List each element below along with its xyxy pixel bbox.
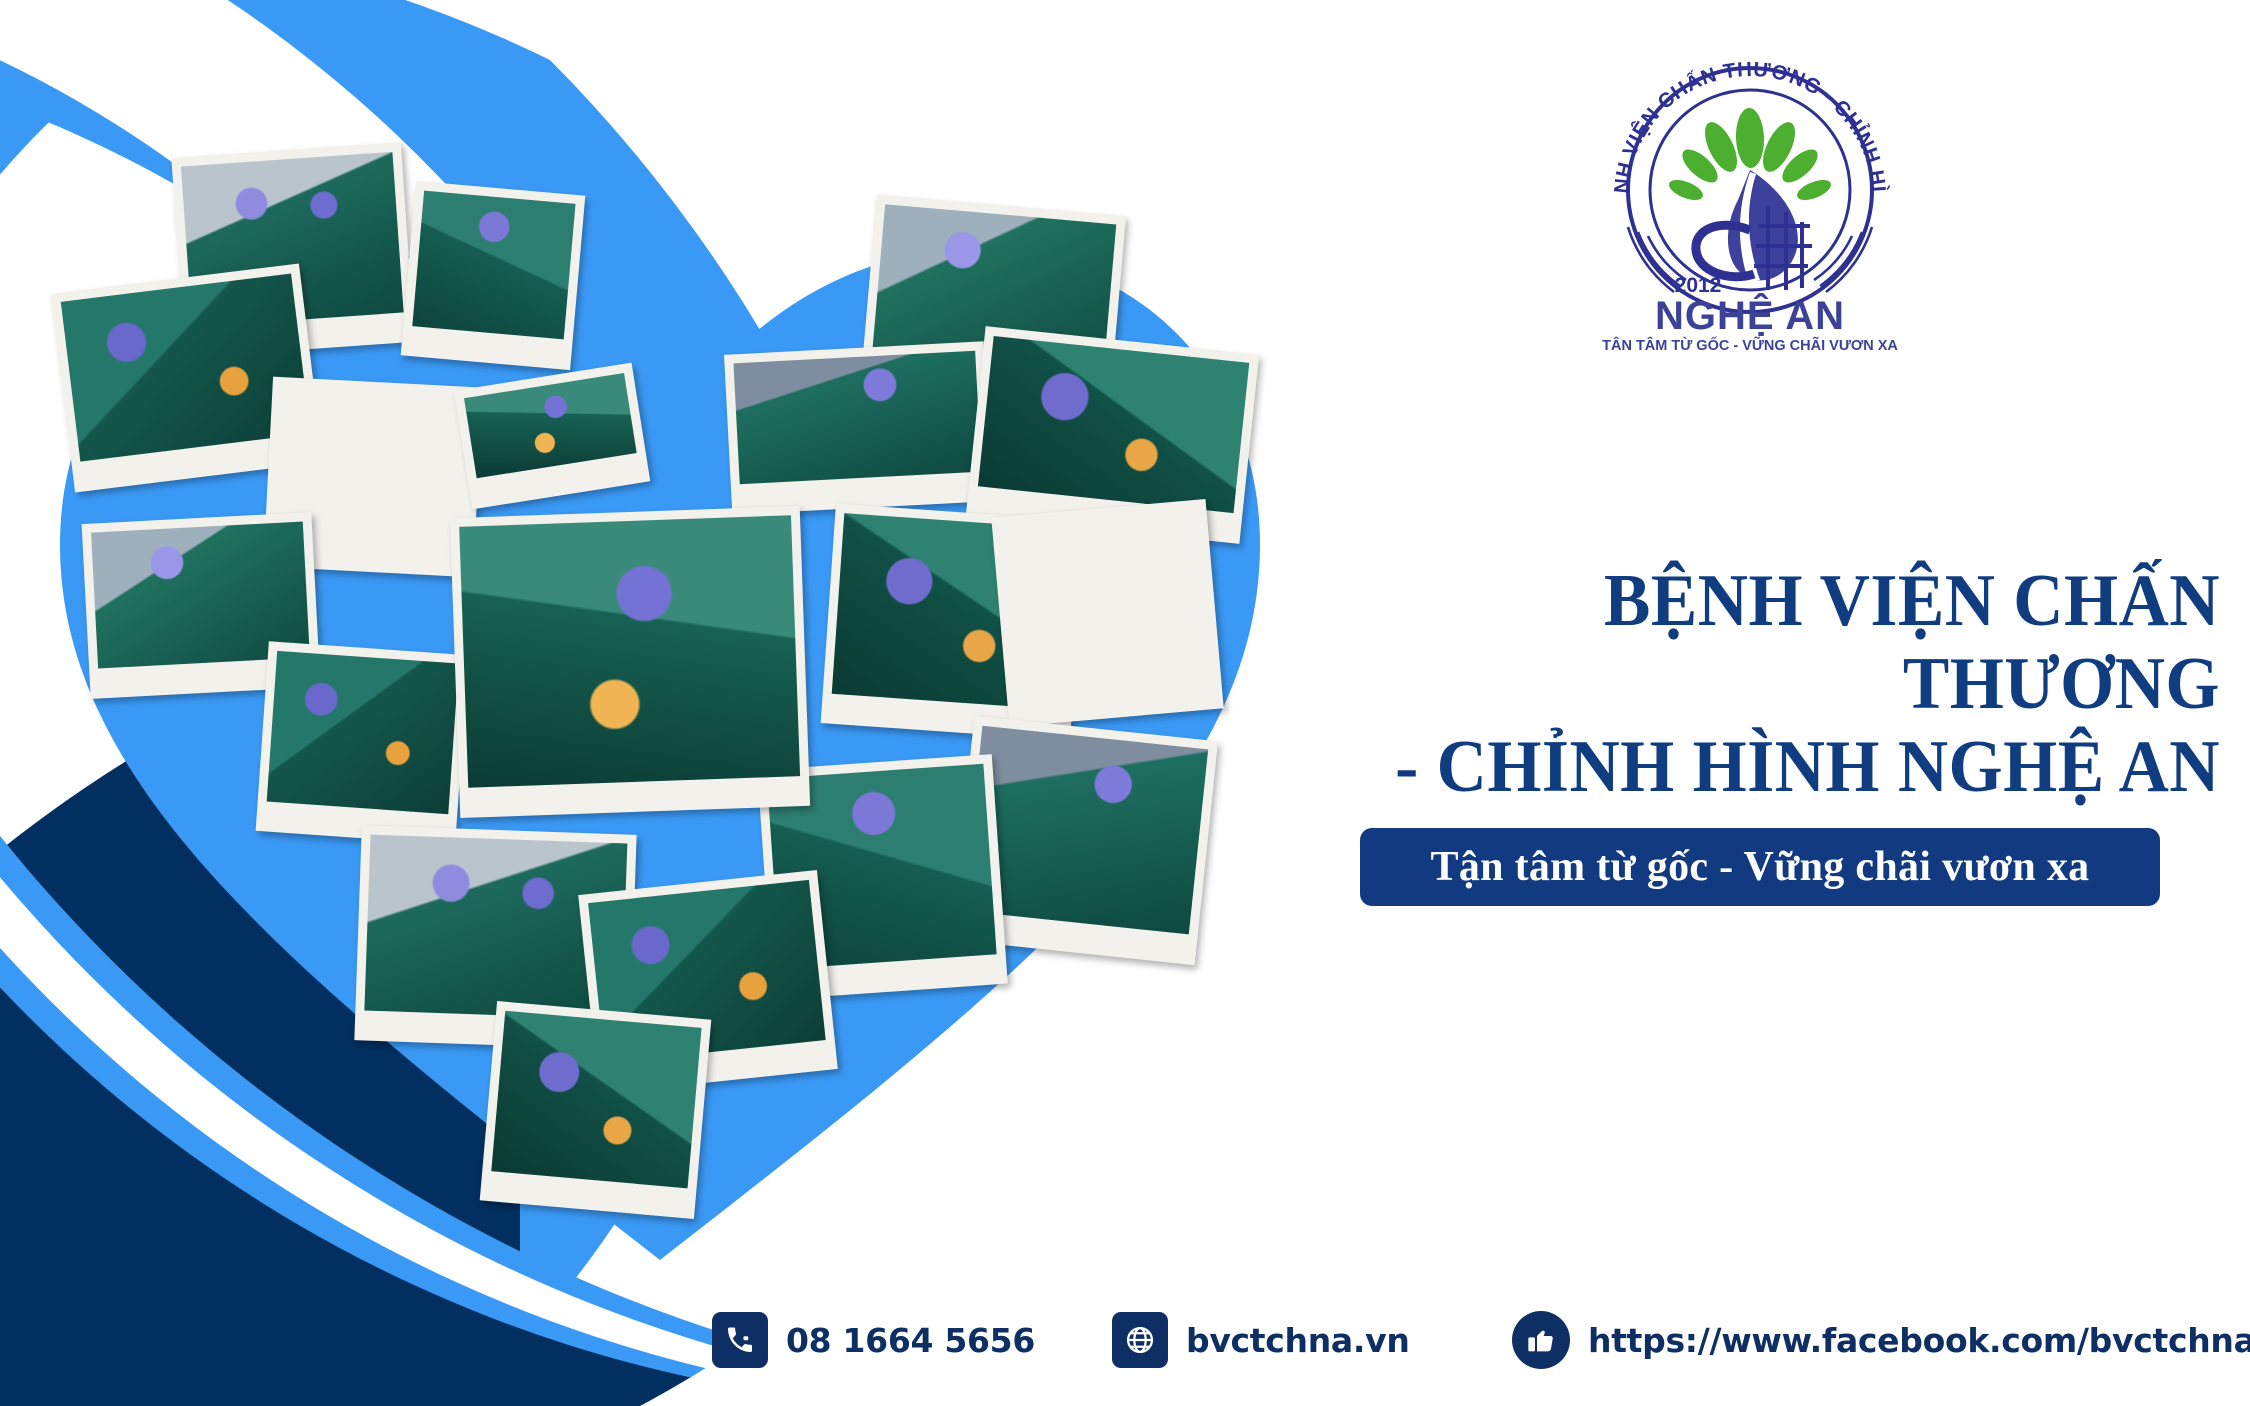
collage-photo (454, 363, 651, 510)
tagline-banner: Tận tâm từ gốc - Vững chãi vươn xa (1360, 828, 2160, 906)
photo-image (978, 336, 1249, 513)
logo-svg: BỆNH VIỆN CHẤN THƯƠNG - CHỈNH HÌNH (1590, 30, 1910, 350)
logo-motto: TẬN TÂM TỪ GỐC - VỮNG CHÃI VƯƠN XA (1602, 336, 1898, 350)
collage-photo (256, 641, 469, 844)
collage-photos (0, 0, 1330, 1300)
logo-arc-text: BỆNH VIỆN CHẤN THƯƠNG - CHỈNH HÌNH (1590, 30, 1890, 194)
photo-image (733, 351, 981, 484)
thumbs-up-icon (1512, 1311, 1570, 1369)
photo-image (1001, 509, 1212, 697)
contact-facebook[interactable]: https://www.facebook.com/bvctchna (1512, 1311, 2250, 1369)
headline-line-2: - CHỈNH HÌNH NGHỆ AN (1346, 726, 2220, 809)
collage-photo (480, 1001, 712, 1219)
facebook-url: https://www.facebook.com/bvctchna (1588, 1321, 2250, 1360)
photo-image (491, 1011, 701, 1189)
tagline-text: Tận tâm từ gốc - Vững chãi vươn xa (1431, 843, 2090, 891)
collage-photo (991, 499, 1223, 727)
phone-icon (712, 1312, 768, 1368)
logo-name: NGHỆ AN (1655, 292, 1845, 338)
hospital-logo: BỆNH VIỆN CHẤN THƯƠNG - CHỈNH HÌNH (1590, 30, 1910, 350)
photo-image (459, 515, 800, 787)
photo-image (464, 373, 637, 478)
hospital-promo-banner: BỆNH VIỆN CHẤN THƯƠNG - CHỈNH HÌNH (0, 0, 2250, 1406)
photo-collage-heart (0, 0, 1330, 1300)
contact-website[interactable]: bvctchna.vn (1112, 1312, 1410, 1368)
collage-photo (401, 181, 586, 370)
contact-phone[interactable]: 08 1664 5656 (712, 1312, 1035, 1368)
footer-contact-bar: 08 1664 5656 bvctchna.vn (0, 1290, 2250, 1390)
collage-photo (724, 341, 992, 514)
website-url: bvctchna.vn (1186, 1321, 1410, 1360)
phone-number: 08 1664 5656 (786, 1321, 1035, 1360)
globe-icon (1112, 1312, 1168, 1368)
page-title: BỆNH VIỆN CHẤN THƯƠNG - CHỈNH HÌNH NGHỆ … (1346, 560, 2220, 809)
collage-photo (450, 506, 810, 818)
headline-line-1: BỆNH VIỆN CHẤN THƯƠNG (1346, 560, 2220, 726)
photo-image (267, 651, 459, 814)
photo-image (412, 191, 575, 340)
